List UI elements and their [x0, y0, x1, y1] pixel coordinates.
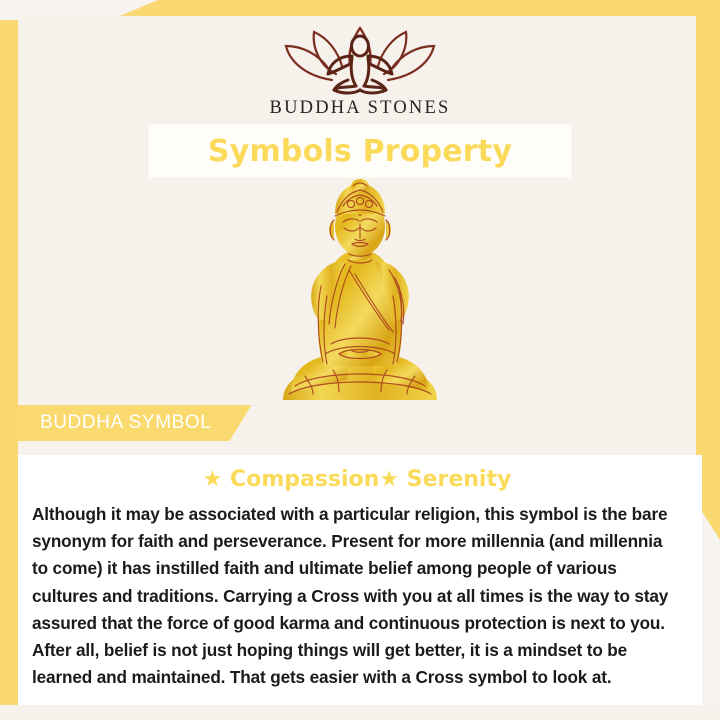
frame-bottom-band [0, 705, 720, 720]
seated-buddha-statue-icon [265, 178, 455, 406]
hero-image [0, 176, 720, 406]
page-title: Symbols Property [208, 134, 512, 169]
title-band: Symbols Property [148, 124, 572, 178]
subheading: ★ Compassion★ Serenity [32, 467, 682, 492]
brand-name: BUDDHA STONES [0, 98, 720, 119]
description-card: ★ Compassion★ Serenity Although it may b… [18, 455, 702, 705]
lotus-meditation-icon [0, 18, 720, 96]
brand-logo: BUDDHA STONES [0, 18, 720, 119]
description-text: Although it may be associated with a par… [32, 501, 682, 691]
ribbon-label: BUDDHA SYMBOL [40, 412, 211, 434]
poster-canvas: BUDDHA STONES Symbols Property [0, 0, 720, 720]
frame-top-band [120, 0, 720, 16]
buddha-symbol-ribbon: BUDDHA SYMBOL [18, 405, 251, 441]
